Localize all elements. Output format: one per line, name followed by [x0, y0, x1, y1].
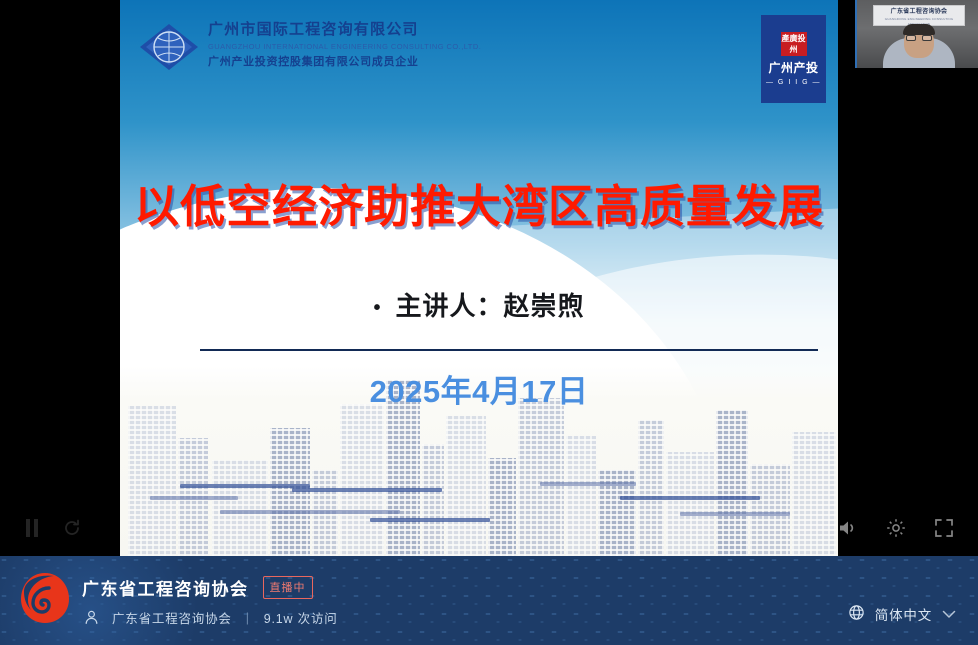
chevron-down-icon [942, 607, 956, 622]
slide-divider [200, 349, 818, 351]
bullet-icon: • [373, 297, 381, 319]
replay-icon [62, 518, 82, 538]
slide-speaker: •主讲人：赵崇煦 [120, 286, 838, 323]
language-label: 简体中文 [875, 604, 932, 624]
meta-separator: | [246, 611, 250, 625]
slide-speaker-text: 主讲人：赵崇煦 [396, 291, 585, 321]
sponsor-seal: 產廣投州 [781, 32, 807, 56]
slide-title: 以低空经济助推大湾区高质量发展 [120, 170, 838, 235]
channel-title-row: 广东省工程咨询协会 直播中 [82, 575, 313, 600]
sponsor-name-cn: 广州产投 [768, 59, 818, 76]
volume-button[interactable] [828, 508, 868, 548]
sponsor-logo: 產廣投州 广州产投 — G I I G — [761, 15, 826, 103]
live-badge: 直播中 [263, 576, 313, 599]
settings-button[interactable] [876, 508, 916, 548]
company-name-cn: 广州市国际工程咨询有限公司 [208, 20, 481, 40]
fullscreen-icon [934, 518, 954, 538]
pause-button[interactable] [12, 508, 52, 548]
pip-wall-banner: 广东省工程咨询协会 GUANGDONG ENGINEERING CONSULTI… [873, 5, 965, 26]
volume-icon [837, 518, 859, 538]
channel-logo-icon [18, 570, 72, 626]
language-selector[interactable]: 简体中文 [848, 604, 956, 624]
user-icon [84, 610, 99, 625]
company-subtitle-cn: 广州产业投资控股集团有限公司成员企业 [208, 53, 481, 71]
slide-date: 2025年4月17日 [120, 366, 838, 411]
host-name: 广东省工程咨询协会 [112, 608, 232, 627]
presentation-slide: 广州市国际工程咨询有限公司 GUANGZHOU INTERNATIONAL EN… [120, 0, 838, 556]
channel-info-bar: 广东省工程咨询协会 直播中 广东省工程咨询协会 | 9.1w 次访问 简体中文 [0, 556, 978, 645]
webcam-pip[interactable]: 广东省工程咨询协会 GUANGDONG ENGINEERING CONSULTI… [855, 0, 978, 68]
company-name-block: 广州市国际工程咨询有限公司 GUANGZHOU INTERNATIONAL EN… [208, 20, 481, 71]
visit-count: 9.1w 次访问 [264, 608, 338, 627]
video-player[interactable]: 广州市国际工程咨询有限公司 GUANGZHOU INTERNATIONAL EN… [0, 0, 978, 556]
channel-meta-row: 广东省工程咨询协会 | 9.1w 次访问 [84, 608, 338, 627]
pip-banner-title: 广东省工程咨询协会 [874, 6, 964, 17]
slide-header: 广州市国际工程咨询有限公司 GUANGZHOU INTERNATIONAL EN… [120, 0, 838, 108]
pip-person-hair [903, 24, 935, 35]
company-name-en: GUANGZHOU INTERNATIONAL ENGINEERING CONS… [208, 40, 481, 53]
pause-icon [23, 518, 41, 538]
pip-person-glasses [906, 35, 932, 41]
company-logo-icon [138, 22, 200, 72]
gear-icon [885, 517, 907, 539]
live-stream-page: 广州市国际工程咨询有限公司 GUANGZHOU INTERNATIONAL EN… [0, 0, 978, 645]
channel-name: 广东省工程咨询协会 [82, 575, 249, 600]
replay-button[interactable] [52, 508, 92, 548]
globe-icon [848, 604, 865, 624]
sponsor-name-en: — G I I G — [766, 79, 821, 86]
fullscreen-button[interactable] [924, 508, 964, 548]
player-controls [0, 500, 978, 556]
